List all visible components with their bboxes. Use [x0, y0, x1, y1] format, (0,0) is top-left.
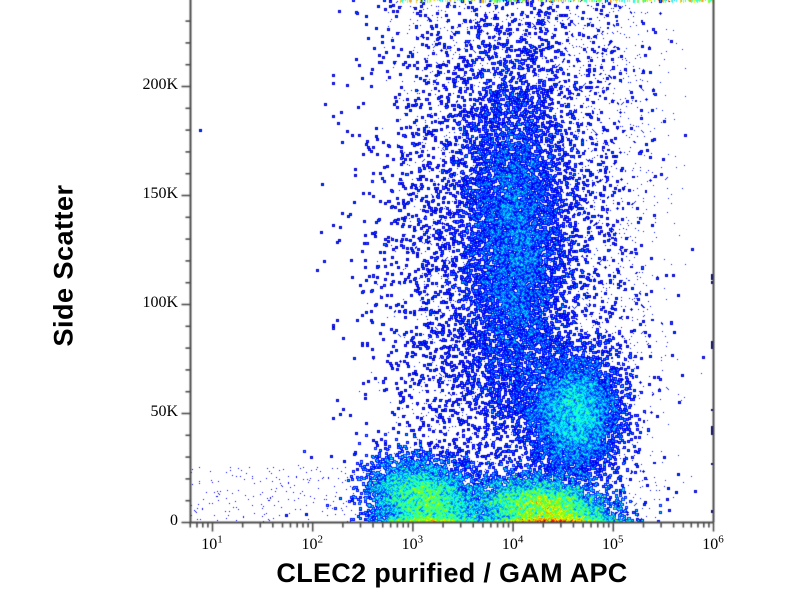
x-tick-exponent: 6 — [718, 534, 724, 546]
x-axis-title: CLEC2 purified / GAM APC — [190, 558, 714, 589]
x-tick-base: 10 — [702, 536, 718, 553]
flow-cytometry-plot: Side Scatter CLEC2 purified / GAM APC 20… — [0, 0, 800, 600]
x-tick-exponent: 1 — [217, 534, 223, 546]
x-tick-base: 10 — [502, 536, 518, 553]
x-tick-exponent: 4 — [518, 534, 524, 546]
x-tick-exponent: 2 — [317, 534, 323, 546]
x-tick-label: 103 — [382, 536, 442, 554]
x-tick-label: 101 — [182, 536, 242, 554]
y-axis-title: Side Scatter — [49, 116, 80, 416]
y-tick-label: 100K — [108, 294, 178, 312]
x-tick-base: 10 — [402, 536, 418, 553]
y-tick-label: 0 — [108, 512, 178, 530]
x-tick-label: 104 — [483, 536, 543, 554]
x-tick-base: 10 — [602, 536, 618, 553]
x-tick-base: 10 — [201, 536, 217, 553]
y-tick-label: 200K — [108, 76, 178, 94]
x-tick-label: 106 — [683, 536, 743, 554]
x-tick-label: 102 — [282, 536, 342, 554]
x-tick-exponent: 5 — [618, 534, 624, 546]
x-tick-exponent: 3 — [418, 534, 424, 546]
x-tick-label: 105 — [583, 536, 643, 554]
x-tick-base: 10 — [301, 536, 317, 553]
y-tick-label: 150K — [108, 185, 178, 203]
y-tick-label: 50K — [108, 403, 178, 421]
